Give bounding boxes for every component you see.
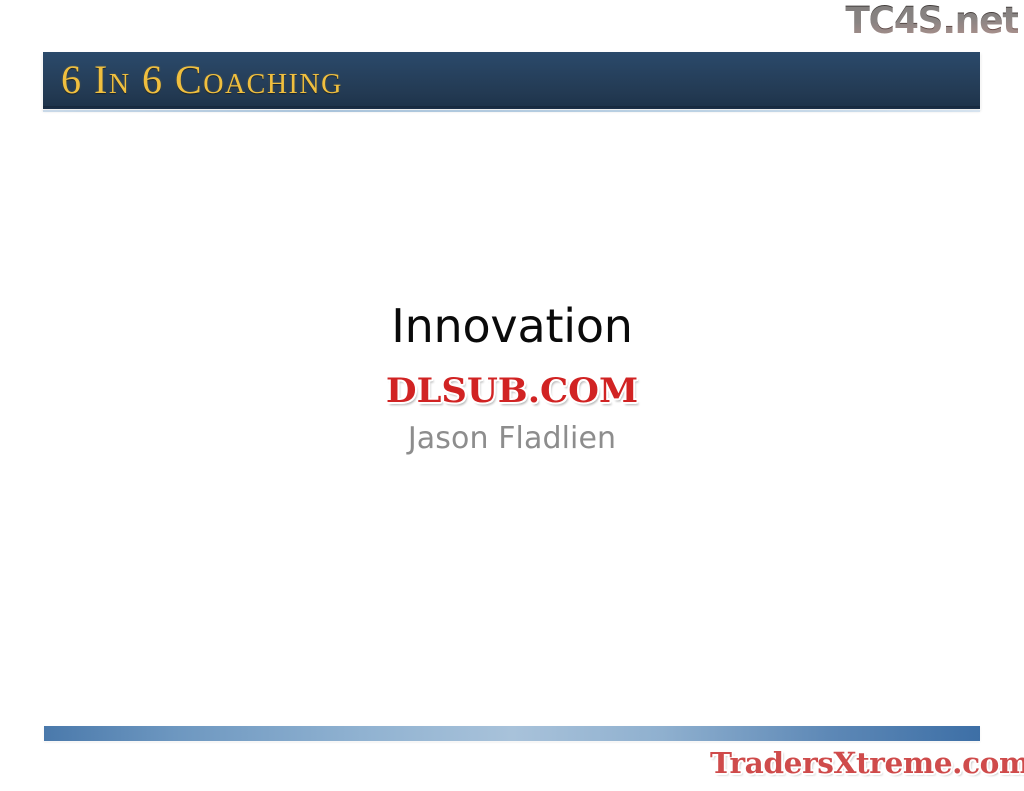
slide-canvas: TC4S.net 6 In 6 Coaching Innovation Jaso…	[0, 0, 1024, 791]
tc4s-watermark: TC4S.net	[845, 2, 1018, 39]
tradersxtreme-watermark: TradersXtreme.com	[710, 749, 1024, 778]
slide-title: Innovation	[0, 300, 1024, 353]
footer-accent-bar	[44, 726, 980, 741]
header-banner-title: 6 In 6 Coaching	[61, 60, 343, 100]
dlsub-watermark: DLSUB.COM	[380, 371, 645, 411]
header-banner: 6 In 6 Coaching	[43, 52, 980, 109]
header-underline-rule	[43, 110, 980, 112]
